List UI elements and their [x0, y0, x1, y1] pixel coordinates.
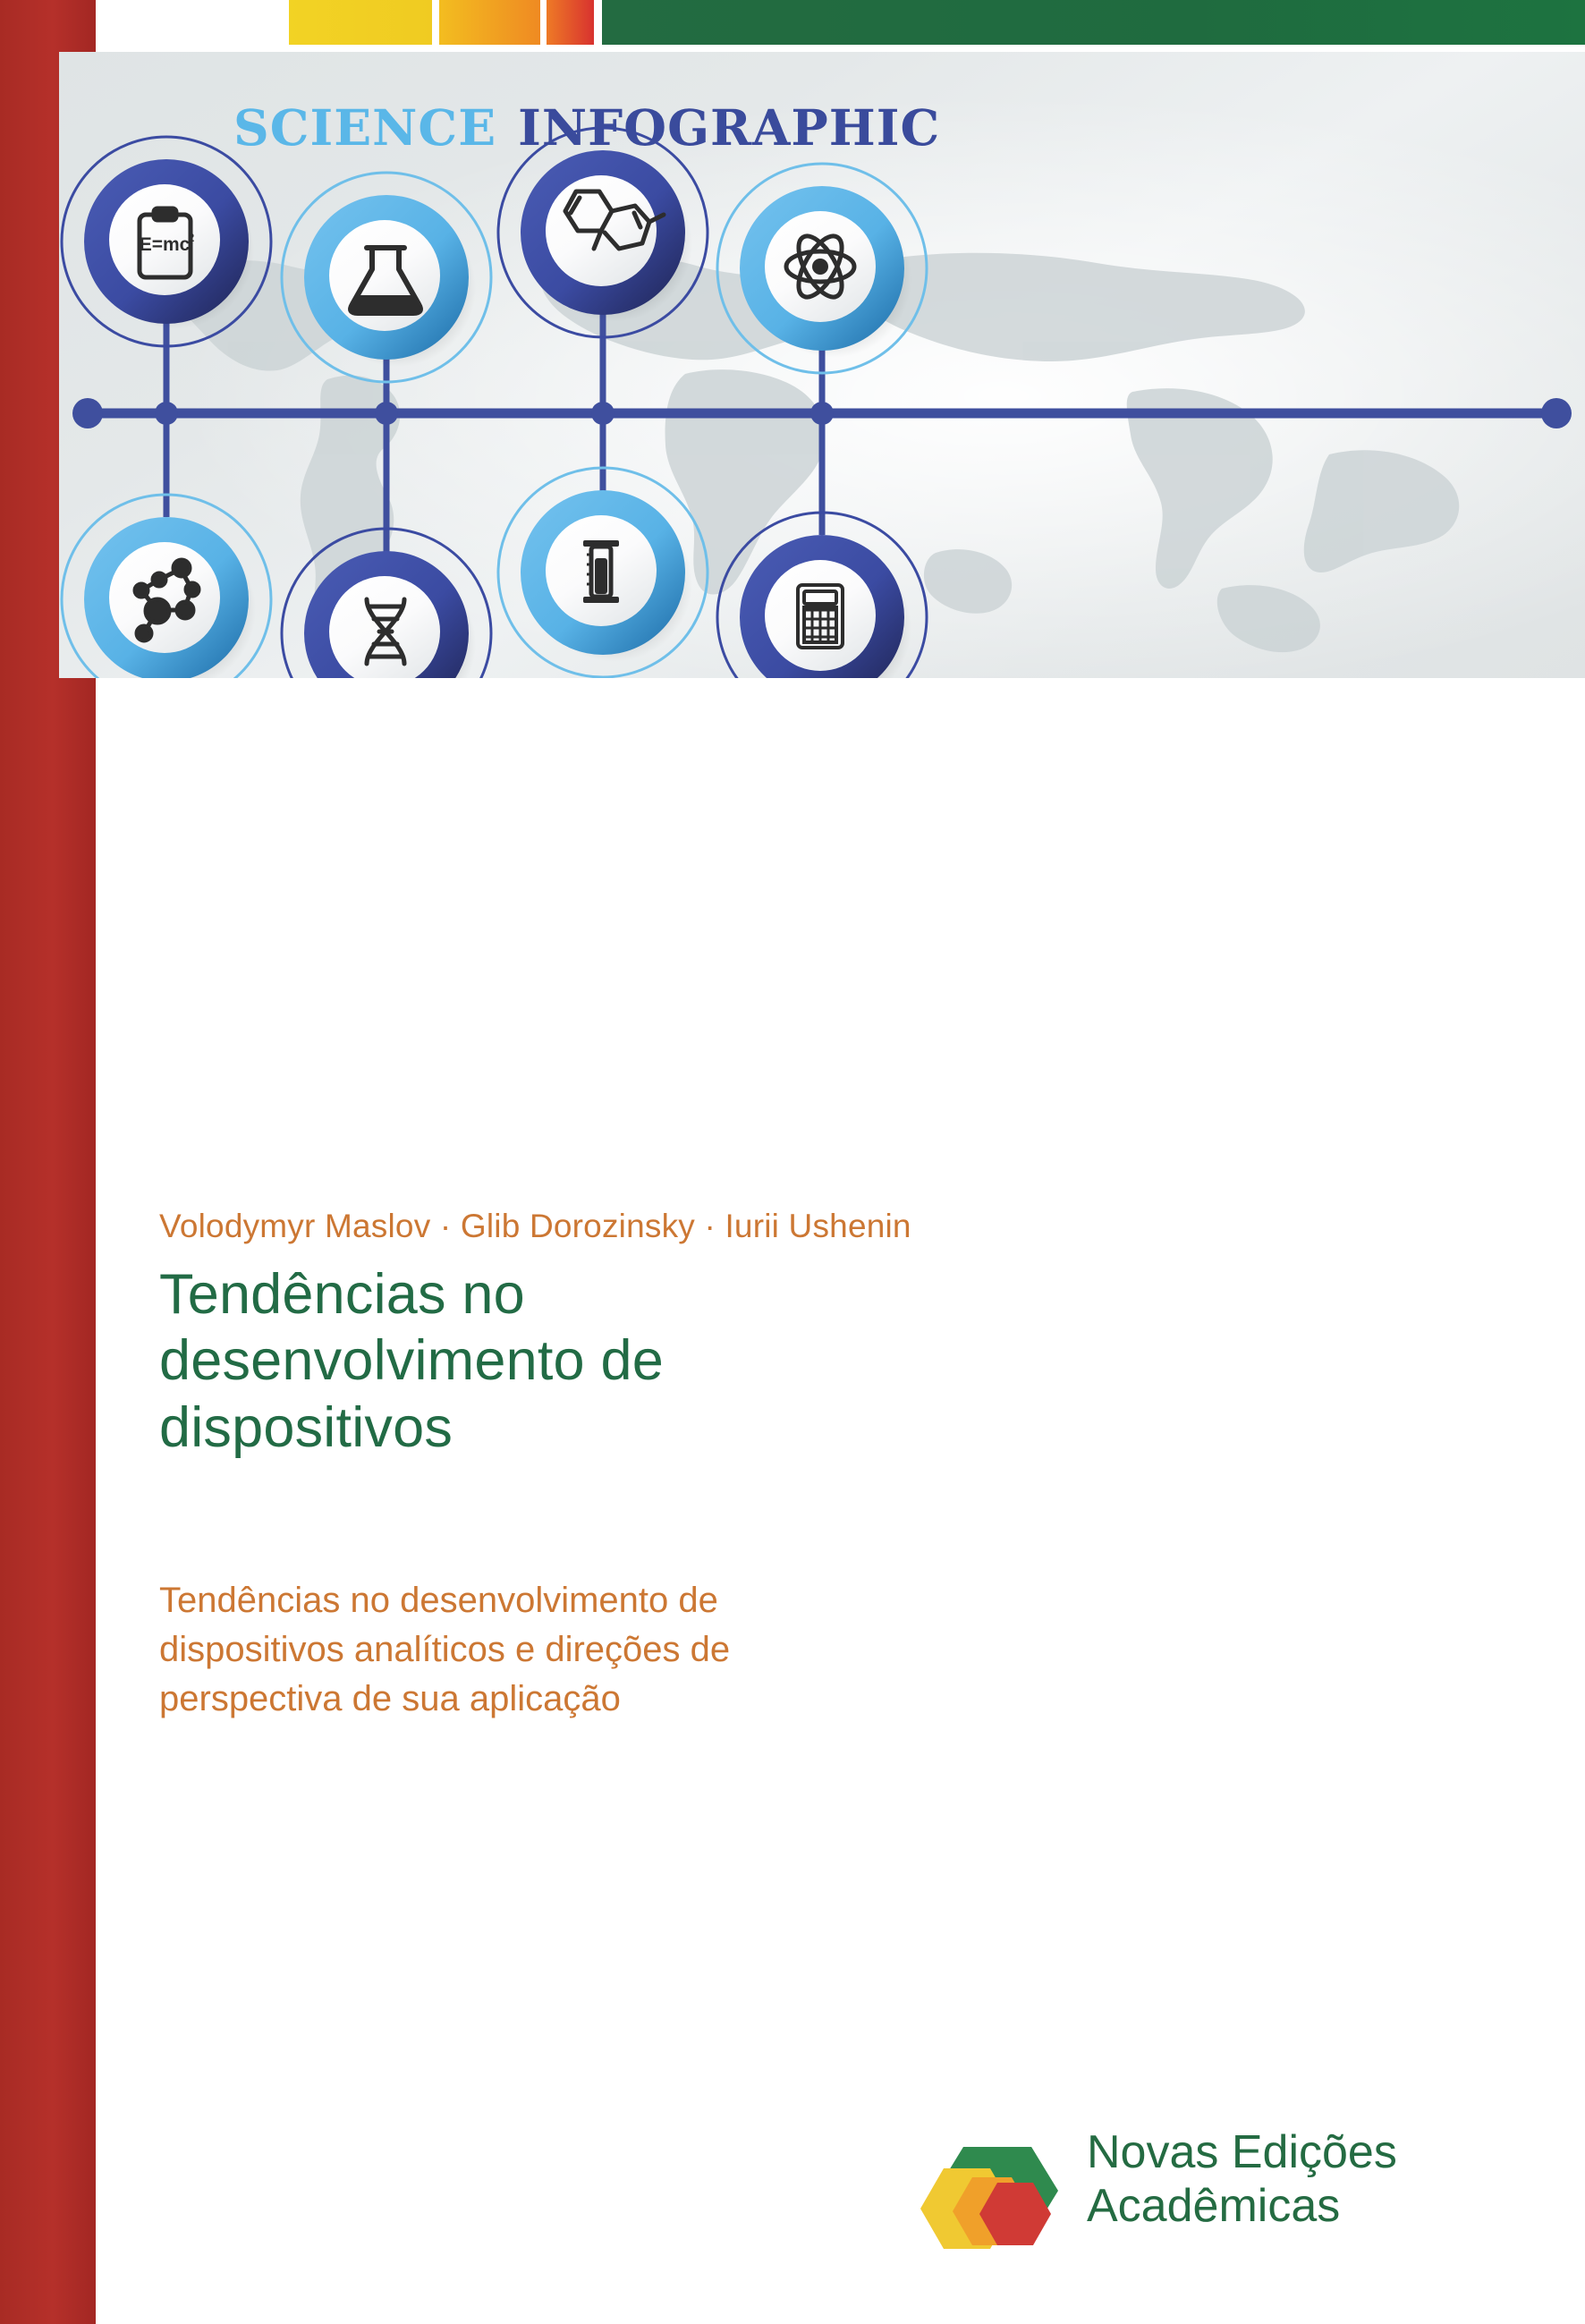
hexagon-logo	[908, 2142, 1069, 2276]
node-flask	[282, 173, 491, 382]
publisher-name-line2: Acadêmicas	[1087, 2179, 1397, 2233]
red-bar	[547, 0, 594, 45]
node-test-tube	[498, 468, 708, 677]
svg-text:2: 2	[188, 231, 194, 244]
book-subtitle: Tendências no desenvolvimento de disposi…	[159, 1576, 803, 1725]
green-bar	[602, 0, 1585, 45]
orange-bar	[439, 0, 540, 45]
node-benzene	[498, 128, 708, 337]
publisher-block: Novas Edições Acadêmicas	[908, 2125, 1534, 2295]
cover-infographic: E=mc 2	[59, 52, 1585, 678]
infographic-title-science: SCIENCE	[233, 98, 496, 157]
infographic-title-infographic: INFOGRAPHIC	[518, 98, 940, 157]
publisher-name-line1: Novas Edições	[1087, 2126, 1397, 2178]
node-clipboard-emc2: E=mc 2	[62, 137, 271, 346]
node-molecule	[62, 495, 271, 678]
book-authors: Volodymyr Maslov · Glib Dorozinsky · Iur…	[159, 1208, 1215, 1245]
top-color-bars	[0, 0, 1585, 45]
svg-text:E=mc: E=mc	[140, 234, 191, 255]
publisher-name: Novas Edições Acadêmicas	[1087, 2125, 1397, 2234]
book-title: Tendências no desenvolvimento de disposi…	[159, 1261, 839, 1461]
node-atom	[717, 164, 927, 373]
infographic-title: SCIENCEINFOGRAPHIC	[233, 98, 940, 157]
yellow-bar	[289, 0, 432, 45]
